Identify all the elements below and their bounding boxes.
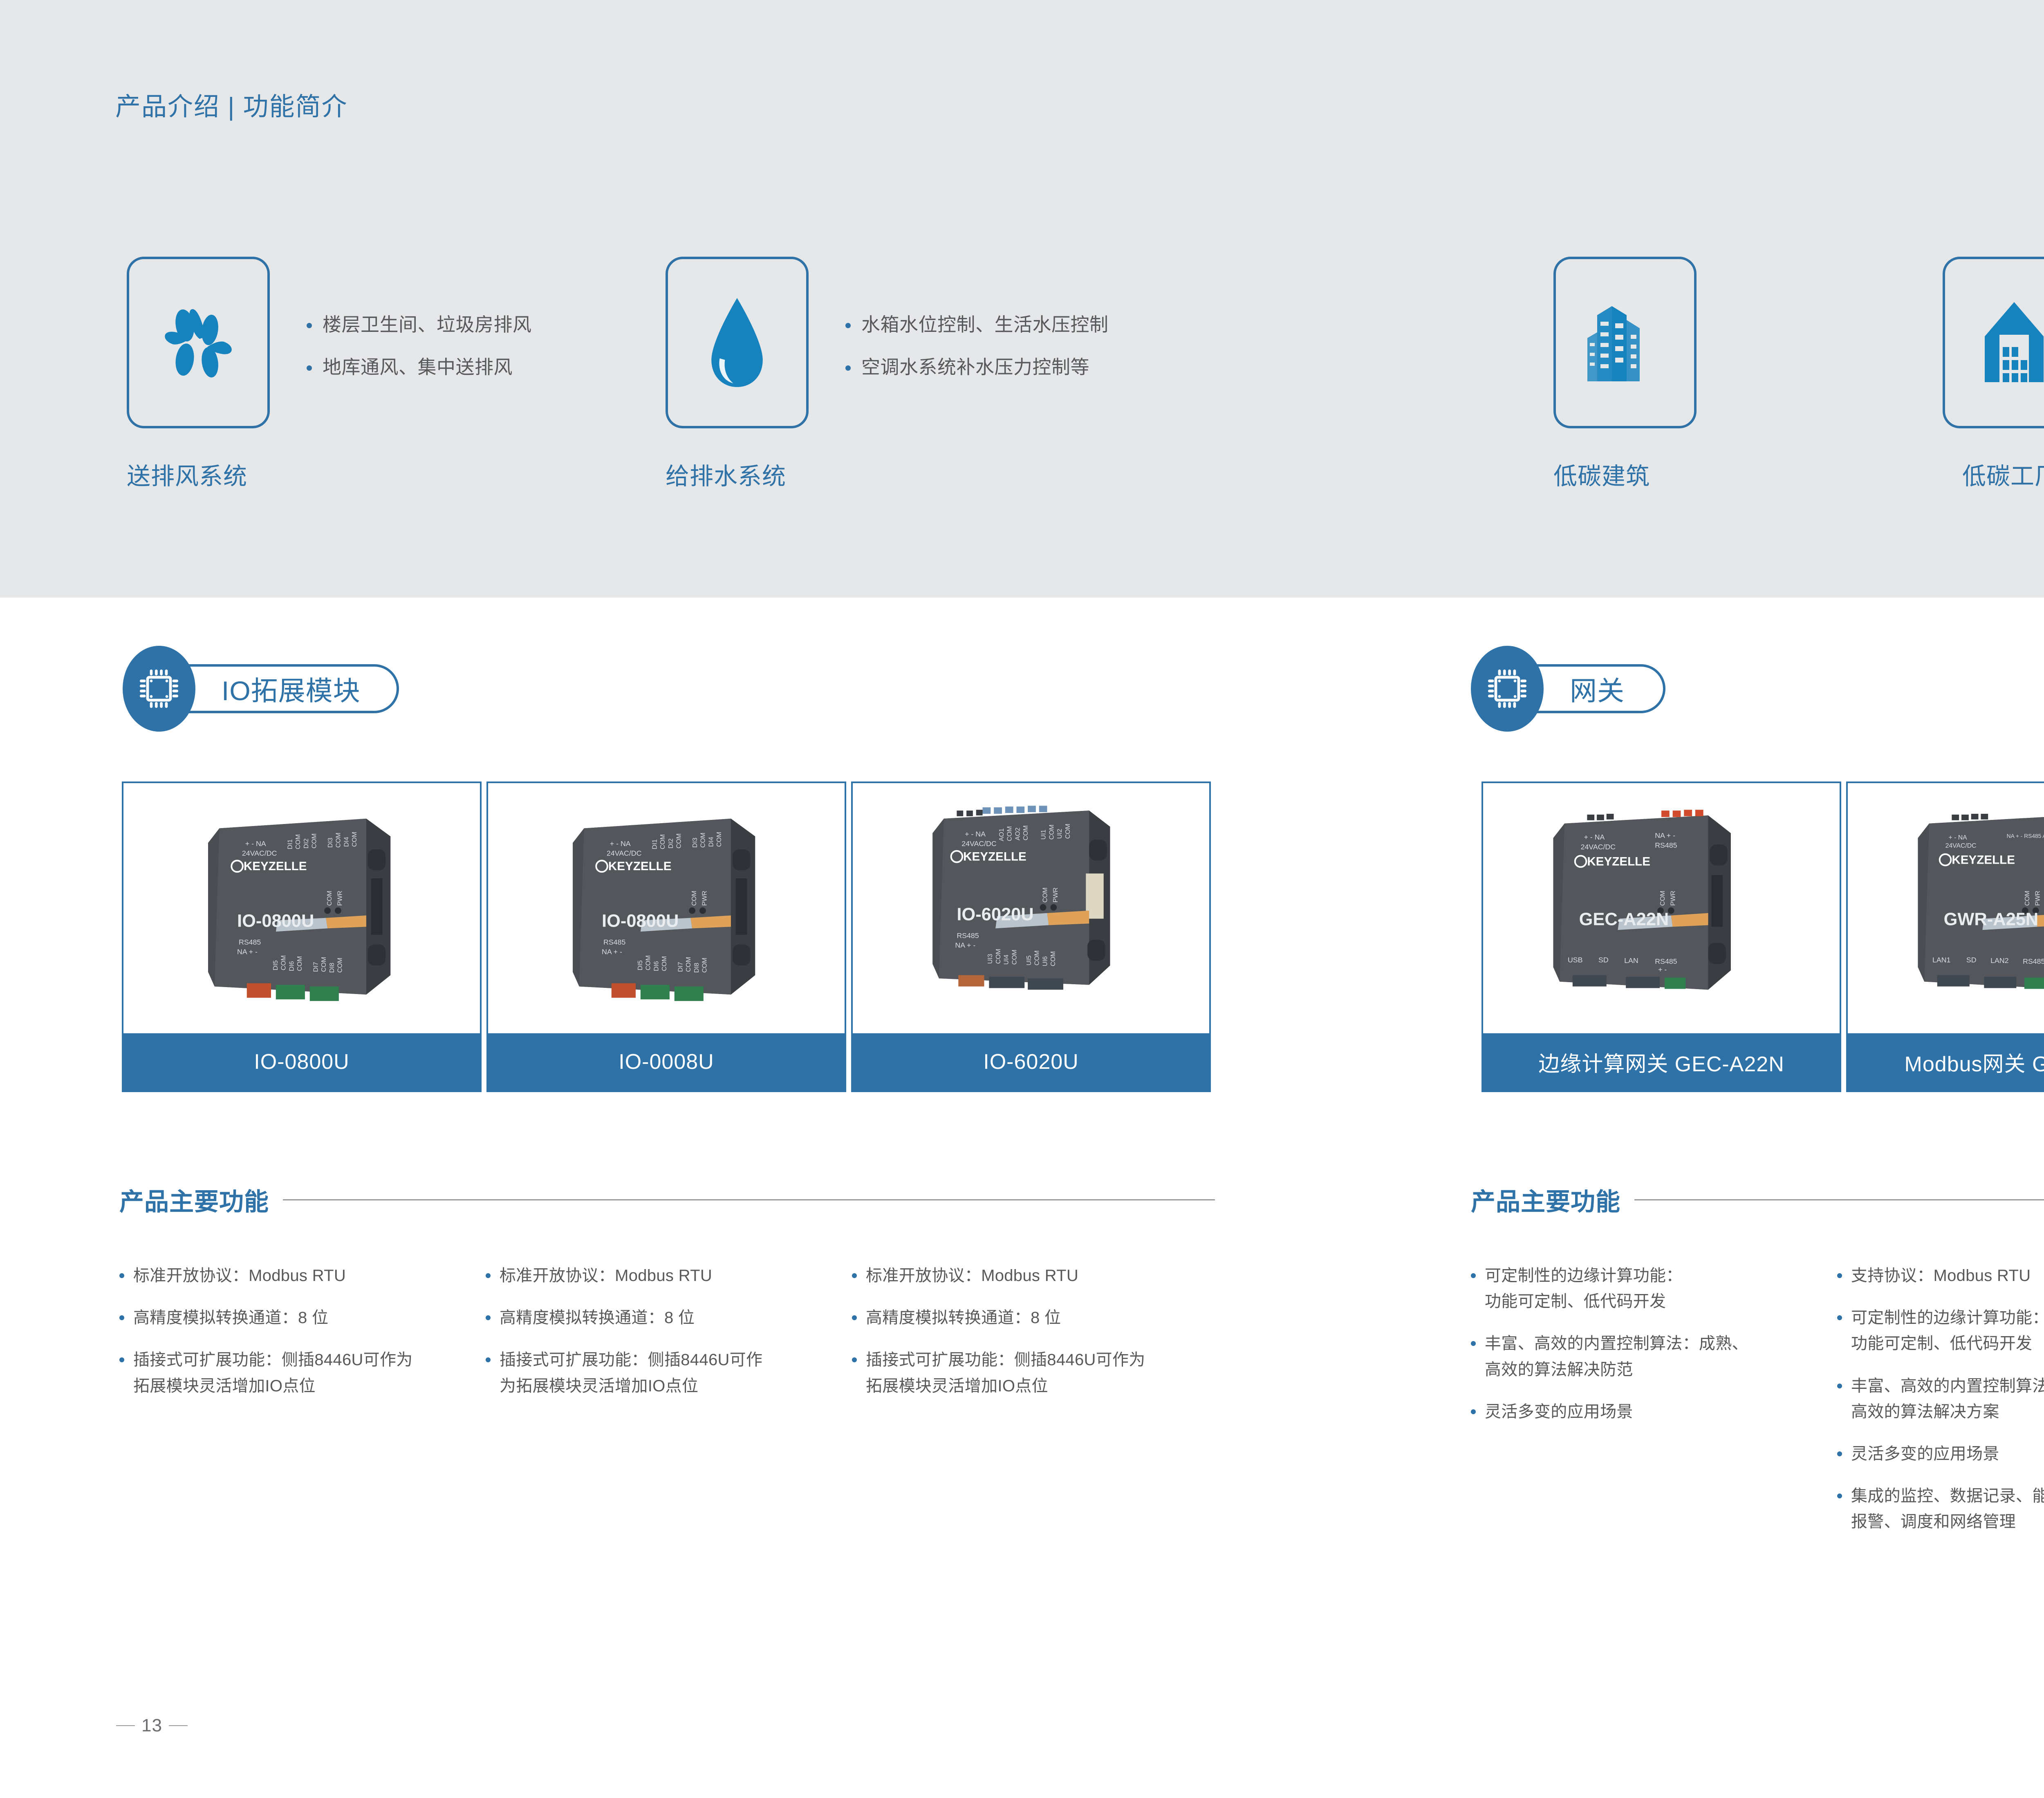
svg-text:RS485: RS485 [1655, 841, 1677, 849]
svg-text:COM: COM [1065, 824, 1071, 839]
svg-text:RS485: RS485 [957, 931, 979, 940]
svg-text:KEYZELLE: KEYZELLE [244, 860, 307, 873]
product-image-io-0800u: + - NA 24VAC/DC DI1 COM DI2 COM DI3 COM … [123, 783, 480, 1033]
feature-column-3-left: 标准开放协议：Modbus RTU 高精度模拟转换通道：8 位 插接式可扩展功能… [852, 1263, 1220, 1399]
svg-text:COM: COM [2024, 891, 2031, 906]
bullet-dot-icon [845, 365, 851, 371]
svg-text:PWR: PWR [1670, 891, 1677, 906]
svg-text:DI3: DI3 [327, 837, 334, 848]
svg-text:+ -: + - [1658, 965, 1667, 974]
svg-text:RS485: RS485 [2023, 957, 2044, 965]
icon-card-low-carbon-factory [1943, 257, 2044, 428]
feature-text: 丰富、高效的内置控制算法：成熟、 高效的算法解决方案 [1851, 1373, 2044, 1425]
svg-text:GWR-A25N: GWR-A25N [1944, 909, 2039, 929]
device-illustration: + - NA 24VAC/DC DI1 COM DI2 COM DI3 COM … [123, 783, 480, 1033]
bullet-dot-icon [307, 365, 312, 371]
features-heading-text: 产品主要功能 [119, 1182, 269, 1218]
svg-text:DI6: DI6 [288, 961, 295, 971]
feature-text: 插接式可扩展功能：侧插8446U可作 为拓展模块灵活增加IO点位 [500, 1347, 762, 1399]
feature-column-1-right: 可定制性的边缘计算功能： 功能可定制、低代码开发 丰富、高效的内置控制算法：成熟… [1471, 1263, 1831, 1425]
svg-text:PWR: PWR [2035, 891, 2042, 906]
svg-text:DI4: DI4 [708, 837, 715, 847]
bullet-dot-icon [1471, 1341, 1476, 1346]
device-illustration: + - NA 24VAC/DC NA + - RS485 COM PWR USB… [1483, 783, 1840, 1033]
svg-text:24VAC/DC: 24VAC/DC [961, 840, 997, 848]
svg-text:DI3: DI3 [692, 837, 699, 848]
bullet-dot-icon [852, 1357, 857, 1362]
svg-text:COM: COM [335, 833, 342, 848]
icon-card-low-carbon-building [1553, 257, 1697, 428]
svg-text:+ - NA: + - NA [610, 840, 631, 848]
svg-text:UI5: UI5 [1026, 955, 1033, 965]
svg-text:AO2: AO2 [1014, 828, 1021, 841]
svg-text:+ - NA: + - NA [245, 840, 266, 848]
device-illustration: + - NA 24VAC/DC NA + - RS485 A + - B COM… [1848, 783, 2044, 1033]
page-number-text: 13 [141, 1715, 162, 1736]
product-card-gec-a22n[interactable]: + - NA 24VAC/DC NA + - RS485 COM PWR USB… [1481, 781, 1841, 1092]
bullet-dot-icon [1837, 1273, 1842, 1278]
svg-text:COM: COM [995, 949, 1002, 964]
svg-text:COM: COM [691, 891, 698, 906]
svg-text:COM: COM [1048, 824, 1055, 840]
bullet-text: 空调水系统补水压力控制等 [861, 357, 1089, 377]
svg-text:COM: COM [1659, 891, 1666, 906]
svg-text:COM: COM [1050, 951, 1057, 966]
product-image-io-0008u: + - NA 24VAC/DC DI1 COM DI2 COM DI3 COM … [488, 783, 845, 1033]
product-card-io-0800u[interactable]: + - NA 24VAC/DC DI1 COM DI2 COM DI3 COM … [122, 781, 482, 1092]
bullet-dot-icon [307, 323, 312, 328]
page-number-left: 13 [116, 1715, 188, 1736]
bullet-dot-icon [852, 1273, 857, 1278]
office-building-icon [1584, 296, 1666, 390]
svg-text:DI1: DI1 [651, 839, 658, 849]
svg-text:IO-0800U: IO-0800U [237, 911, 314, 931]
bullet-dot-icon [119, 1357, 124, 1362]
product-image-gec-a22n: + - NA 24VAC/DC NA + - RS485 COM PWR USB… [1483, 783, 1840, 1033]
svg-text:COM: COM [280, 955, 287, 970]
product-image-gwr-a25n: + - NA 24VAC/DC NA + - RS485 A + - B COM… [1848, 783, 2044, 1033]
svg-text:PWR: PWR [1052, 887, 1059, 902]
svg-text:COM: COM [311, 833, 318, 849]
svg-text:AO1: AO1 [998, 828, 1005, 842]
feature-text: 丰富、高效的内置控制算法：成熟、 高效的算法解决防范 [1485, 1331, 1748, 1382]
svg-text:COM: COM [295, 834, 302, 849]
svg-text:NA + -: NA + - [955, 941, 975, 949]
svg-text:SD: SD [1966, 956, 1977, 964]
svg-text:COM: COM [326, 891, 333, 906]
device-illustration: + - NA 24VAC/DC AO1 COM AO2 COM UI1 COM … [853, 783, 1209, 1033]
svg-text:NA + - RS485 A + - B: NA + - RS485 A + - B [2007, 833, 2044, 839]
feature-text: 可定制性的边缘计算功能： 功能可定制、低代码开发 [1485, 1263, 1683, 1314]
svg-text:DI5: DI5 [272, 960, 279, 970]
feature-text: 标准开放协议：Modbus RTU [866, 1263, 1078, 1289]
svg-text:DI6: DI6 [653, 961, 660, 971]
svg-text:DI8: DI8 [693, 963, 700, 973]
bullet-dot-icon [486, 1273, 491, 1278]
features-heading-right: 产品主要功能 [1471, 1182, 2044, 1218]
feature-column-2-left: 标准开放协议：Modbus RTU 高精度模拟转换通道：8 位 插接式可扩展功能… [486, 1263, 845, 1399]
svg-text:UI1: UI1 [1040, 830, 1047, 840]
chip-icon-right [1471, 646, 1544, 732]
bullet-dot-icon [1471, 1409, 1476, 1414]
icon-card-water [666, 257, 809, 428]
svg-text:COM: COM [1011, 949, 1018, 965]
svg-text:NA + -: NA + - [237, 948, 258, 956]
svg-text:UI2: UI2 [1056, 829, 1063, 839]
feature-text: 高精度模拟转换通道：8 位 [133, 1305, 328, 1331]
svg-text:+ - NA: + - NA [965, 830, 986, 838]
svg-text:UI4: UI4 [1003, 954, 1010, 965]
bullet-dot-icon [1837, 1384, 1842, 1388]
svg-text:KEYZELLE: KEYZELLE [608, 860, 672, 873]
heading-rule [283, 1199, 1215, 1200]
feature-text: 标准开放协议：Modbus RTU [133, 1263, 346, 1289]
device-illustration: + - NA 24VAC/DC DI1 COM DI2 COM DI3 COM … [488, 783, 845, 1033]
bullet-text: 水箱水位控制、生活水压控制 [861, 315, 1109, 334]
brochure-spread: 产品介绍 | 功能简介 产品介绍 | 功能简介 送排风系统 楼层卫生间、垃圾房排… [0, 0, 2044, 1798]
feature-text: 支持协议：Modbus RTU [1851, 1263, 2031, 1289]
feature-text: 灵活多变的应用场景 [1485, 1399, 1633, 1425]
icon-card-fan [127, 257, 270, 428]
chip-icon [1484, 666, 1530, 712]
bullet-dot-icon [119, 1273, 124, 1278]
svg-text:COM: COM [700, 833, 707, 848]
svg-text:LAN: LAN [1624, 956, 1638, 965]
svg-text:+ - NA: + - NA [1584, 833, 1605, 841]
section-title-gateways: 网关 [1471, 646, 1665, 732]
factory-icon [1973, 296, 2044, 390]
product-label: IO-0008U [488, 1033, 845, 1090]
svg-text:KEYZELLE: KEYZELLE [1587, 855, 1650, 868]
caption-fan: 送排风系统 [127, 457, 247, 491]
svg-text:IO-0800U: IO-0800U [602, 911, 679, 931]
svg-text:DI7: DI7 [312, 962, 319, 972]
svg-text:SD: SD [1598, 956, 1609, 964]
svg-text:RS485: RS485 [603, 938, 625, 946]
chip-icon [136, 666, 182, 712]
bullet-text: 地库通风、集中送排风 [323, 357, 513, 377]
svg-text:COM: COM [661, 956, 668, 971]
svg-text:COM: COM [1034, 950, 1041, 965]
features-heading-left: 产品主要功能 [119, 1182, 1215, 1218]
bullet-dot-icon [486, 1357, 491, 1362]
feature-text: 插接式可扩展功能：侧插8446U可作为 拓展模块灵活增加IO点位 [866, 1347, 1145, 1399]
page-rule-right [169, 1725, 188, 1726]
feature-column-2-right: 支持协议：Modbus RTU 可定制性的边缘计算功能： 功能可定制、低代码开发… [1837, 1263, 2044, 1535]
section-title-io-modules: IO拓展模块 [123, 646, 399, 732]
svg-text:KEYZELLE: KEYZELLE [1952, 853, 2015, 867]
svg-text:RS485: RS485 [239, 938, 261, 946]
caption-water: 给排水系统 [666, 457, 786, 491]
heading-rule [1634, 1199, 2044, 1200]
svg-text:24VAC/DC: 24VAC/DC [1581, 843, 1616, 851]
features-heading-text: 产品主要功能 [1471, 1182, 1620, 1218]
product-card-io-0008u[interactable]: + - NA 24VAC/DC DI1 COM DI2 COM DI3 COM … [486, 781, 846, 1092]
feature-text: 集成的监控、数据记录、能耗计量、 报警、调度和网络管理 [1851, 1483, 2044, 1535]
page-rule-left [116, 1725, 135, 1726]
svg-text:LAN2: LAN2 [1990, 956, 2008, 965]
fan-icon [153, 298, 243, 387]
svg-text:24VAC/DC: 24VAC/DC [607, 849, 642, 858]
svg-text:DI2: DI2 [668, 838, 675, 849]
svg-text:COM: COM [320, 957, 327, 972]
water-drop-icon [696, 293, 778, 392]
svg-text:IO-6020U: IO-6020U [957, 905, 1033, 925]
feature-text: 灵活多变的应用场景 [1851, 1441, 1999, 1467]
feature-text: 标准开放协议：Modbus RTU [500, 1263, 712, 1289]
bullet-dot-icon [1837, 1451, 1842, 1456]
product-label: IO-0800U [123, 1033, 480, 1090]
svg-text:COM: COM [659, 834, 666, 849]
section-title-text: IO拓展模块 [222, 669, 361, 708]
svg-text:DI2: DI2 [303, 838, 310, 849]
feature-text: 高精度模拟转换通道：8 位 [500, 1305, 695, 1331]
bullet-dot-icon [852, 1315, 857, 1320]
svg-text:PWR: PWR [702, 891, 708, 906]
svg-text:DI8: DI8 [329, 963, 336, 973]
svg-text:COM: COM [1006, 826, 1013, 841]
product-label: IO-6020U [853, 1033, 1209, 1090]
svg-text:LAN1: LAN1 [1932, 956, 1950, 964]
feature-text: 高精度模拟转换通道：8 位 [866, 1305, 1061, 1331]
svg-text:DI7: DI7 [677, 962, 684, 972]
page-header-left: 产品介绍 | 功能简介 [115, 86, 348, 123]
svg-text:COM: COM [296, 956, 303, 971]
svg-text:NA + -: NA + - [1655, 831, 1675, 840]
svg-text:COM: COM [702, 958, 708, 973]
section-pill-left: IO拓展模块 [162, 664, 399, 713]
svg-text:COM: COM [1022, 825, 1029, 840]
product-label: 边缘计算网关 GEC-A22N [1483, 1033, 1840, 1090]
product-label: Modbus网关 GWR-A25N [1848, 1033, 2044, 1090]
section-title-text: 网关 [1570, 669, 1625, 708]
svg-text:COM: COM [351, 832, 358, 847]
svg-text:DI4: DI4 [343, 837, 350, 847]
caption-low-carbon-factory: 低碳工厂 [1962, 457, 2044, 491]
svg-text:KEYZELLE: KEYZELLE [963, 850, 1026, 864]
svg-text:COM: COM [337, 958, 344, 973]
svg-text:COM: COM [676, 833, 683, 849]
product-card-io-6020u[interactable]: + - NA 24VAC/DC AO1 COM AO2 COM UI1 COM … [851, 781, 1211, 1092]
svg-text:24VAC/DC: 24VAC/DC [242, 849, 277, 858]
bullet-dot-icon [1471, 1273, 1476, 1278]
svg-text:COM: COM [685, 957, 692, 972]
bullet-dot-icon [119, 1315, 124, 1320]
product-card-gwr-a25n[interactable]: + - NA 24VAC/DC NA + - RS485 A + - B COM… [1846, 781, 2044, 1092]
svg-text:USB: USB [1568, 956, 1583, 964]
svg-text:+ - NA: + - NA [1948, 834, 1967, 841]
svg-text:COM: COM [1042, 887, 1049, 902]
feature-text: 可定制性的边缘计算功能： 功能可定制、低代码开发 [1851, 1305, 2044, 1357]
bullet-dot-icon [1837, 1493, 1842, 1498]
bullet-text: 楼层卫生间、垃圾房排风 [323, 315, 532, 334]
caption-low-carbon-building: 低碳建筑 [1553, 457, 1650, 491]
bullets-fan: 楼层卫生间、垃圾房排风 地库通风、集中送排风 [307, 315, 532, 377]
svg-text:GEC-A22N: GEC-A22N [1579, 909, 1669, 929]
svg-text:DI1: DI1 [287, 839, 294, 849]
feature-column-1-left: 标准开放协议：Modbus RTU 高精度模拟转换通道：8 位 插接式可扩展功能… [119, 1263, 479, 1399]
svg-text:COM: COM [645, 955, 652, 970]
bullet-dot-icon [1837, 1315, 1842, 1320]
svg-text:UI3: UI3 [987, 954, 994, 964]
svg-text:UI6: UI6 [1042, 956, 1049, 966]
bullet-dot-icon [486, 1315, 491, 1320]
svg-text:NA + -: NA + - [602, 948, 622, 956]
svg-text:PWR: PWR [337, 891, 344, 906]
svg-text:DI5: DI5 [637, 960, 644, 970]
bullets-water: 水箱水位控制、生活水压控制 空调水系统补水压力控制等 [845, 315, 1109, 377]
svg-text:24VAC/DC: 24VAC/DC [1945, 842, 1977, 849]
feature-text: 插接式可扩展功能：侧插8446U可作为 拓展模块灵活增加IO点位 [133, 1347, 413, 1399]
chip-icon-left [123, 646, 195, 732]
svg-text:COM: COM [716, 832, 723, 847]
product-image-io-6020u: + - NA 24VAC/DC AO1 COM AO2 COM UI1 COM … [853, 783, 1209, 1033]
svg-text:RS485: RS485 [1655, 957, 1677, 965]
bullet-dot-icon [845, 323, 851, 328]
